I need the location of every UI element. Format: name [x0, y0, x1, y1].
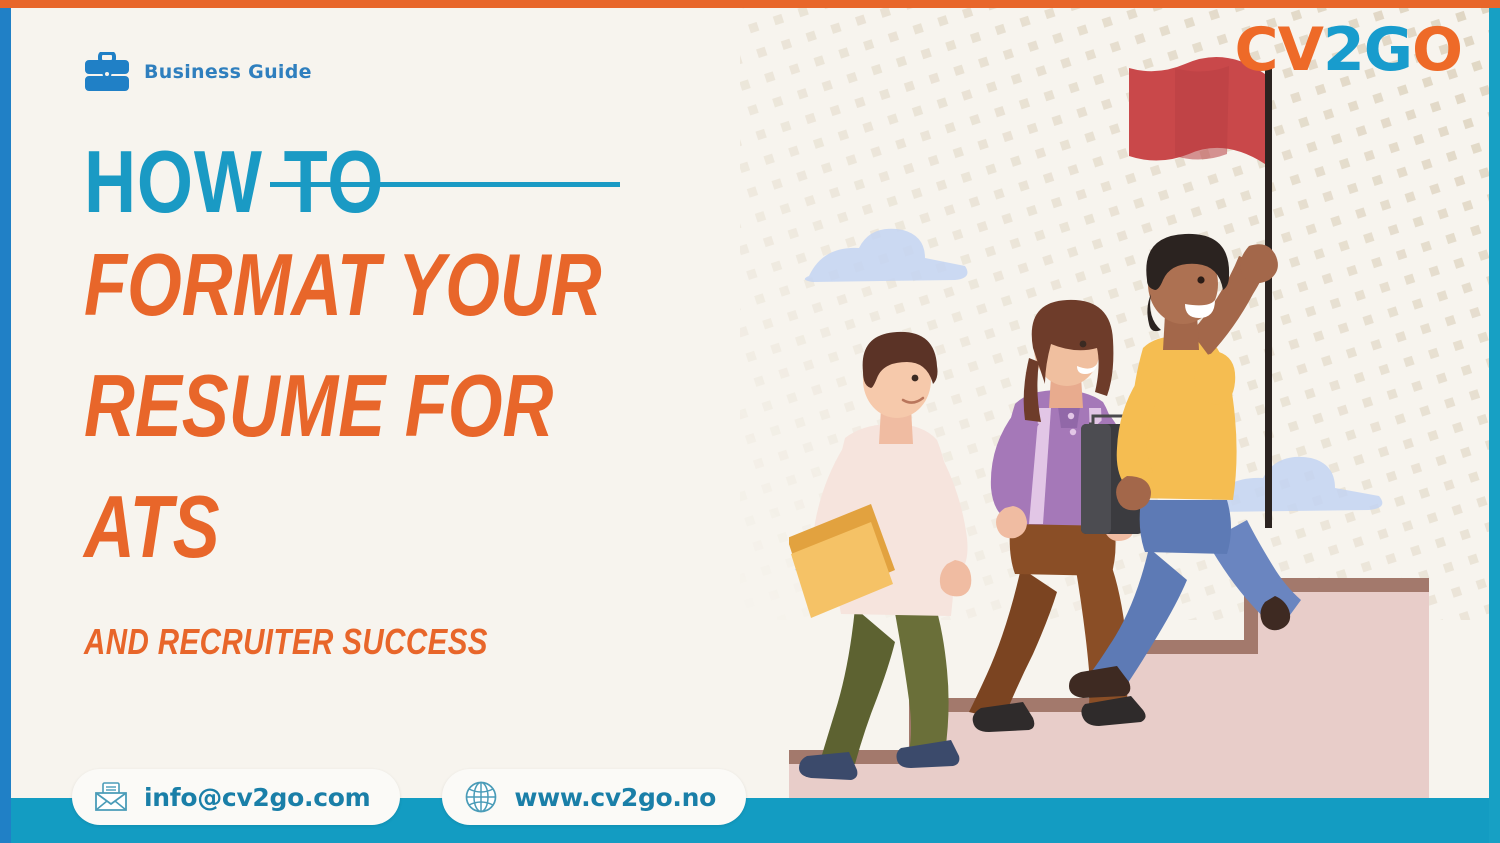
contact-website-label: www.cv2go.no [514, 783, 716, 812]
illustration-people-climbing-stairs [789, 8, 1489, 798]
headline-kicker: HOW TO [84, 140, 384, 224]
business-guide-label: Business Guide [144, 61, 312, 83]
contact-pill-website[interactable]: www.cv2go.no [442, 769, 746, 825]
top-accent-bar [0, 0, 1500, 8]
headline-line-1: FORMAT YOUR [84, 224, 708, 345]
logo-part-o: O [1412, 20, 1462, 80]
contact-pill-email[interactable]: info@cv2go.com [72, 769, 400, 825]
envelope-icon [94, 782, 128, 812]
contact-email-label: info@cv2go.com [144, 783, 370, 812]
briefcase-icon [84, 52, 130, 92]
headline-line-2: RESUME FOR [84, 345, 708, 466]
headline-block: HOW TO FORMAT YOUR RESUME FOR ATS AND RE… [84, 140, 864, 662]
logo-part-cv: CV [1235, 20, 1323, 80]
cv2go-logo: CV2GO [1235, 20, 1462, 80]
business-guide-badge: Business Guide [84, 52, 312, 92]
right-accent-bar [1489, 8, 1500, 843]
globe-icon [464, 780, 498, 814]
left-accent-bar [0, 8, 11, 843]
contact-pill-group: info@cv2go.com www.cv2go.no [72, 769, 746, 825]
poster-canvas: Business Guide CV2GO HOW TO FORMAT YOUR … [0, 0, 1500, 843]
headline-kicker-row: HOW TO [84, 140, 864, 224]
headline-subtitle: AND RECRUITER SUCCESS [84, 622, 724, 662]
headline-line-3: ATS [84, 466, 708, 587]
logo-part-2g: 2G [1323, 20, 1412, 80]
